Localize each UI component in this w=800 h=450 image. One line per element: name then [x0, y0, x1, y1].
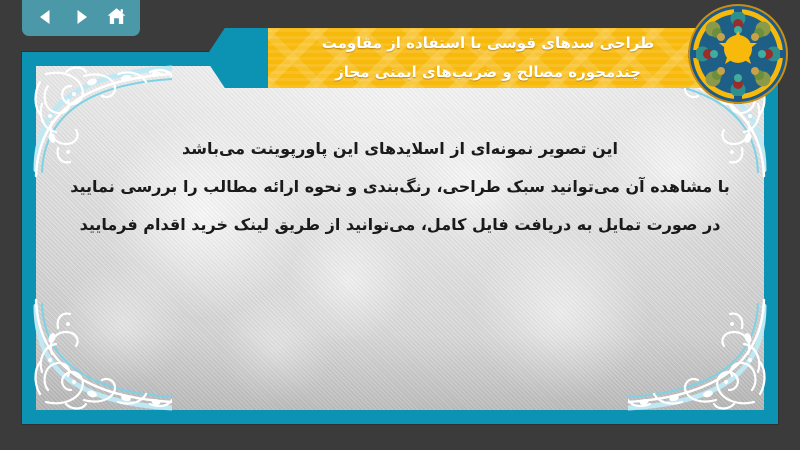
title-line-1: طراحی سدهای قوسی با استفاده از مقاومت [278, 29, 698, 58]
body-line-1: این تصویر نمونه‌ای از اسلایدهای این پاور… [40, 130, 760, 168]
title-banner: طراحی سدهای قوسی با استفاده از مقاومت چن… [268, 28, 708, 88]
title-line-2: چندمحوره مصالح و ضریب‌های ایمنی مجاز [278, 58, 698, 87]
persian-medallion-icon [686, 2, 790, 106]
navigation-bar [22, 0, 140, 36]
back-icon[interactable] [33, 4, 59, 30]
home-icon[interactable] [103, 4, 129, 30]
body-line-2: با مشاهده آن می‌توانید سبک طراحی، رنگ‌بن… [40, 168, 760, 206]
slide-body-text: این تصویر نمونه‌ای از اسلایدهای این پاور… [40, 130, 760, 244]
body-line-3: در صورت تمایل به دریافت فایل کامل، می‌تو… [40, 206, 760, 244]
page-title: طراحی سدهای قوسی با استفاده از مقاومت چن… [268, 28, 708, 87]
slide-viewer: طراحی سدهای قوسی با استفاده از مقاومت چن… [0, 0, 800, 450]
forward-icon[interactable] [68, 4, 94, 30]
